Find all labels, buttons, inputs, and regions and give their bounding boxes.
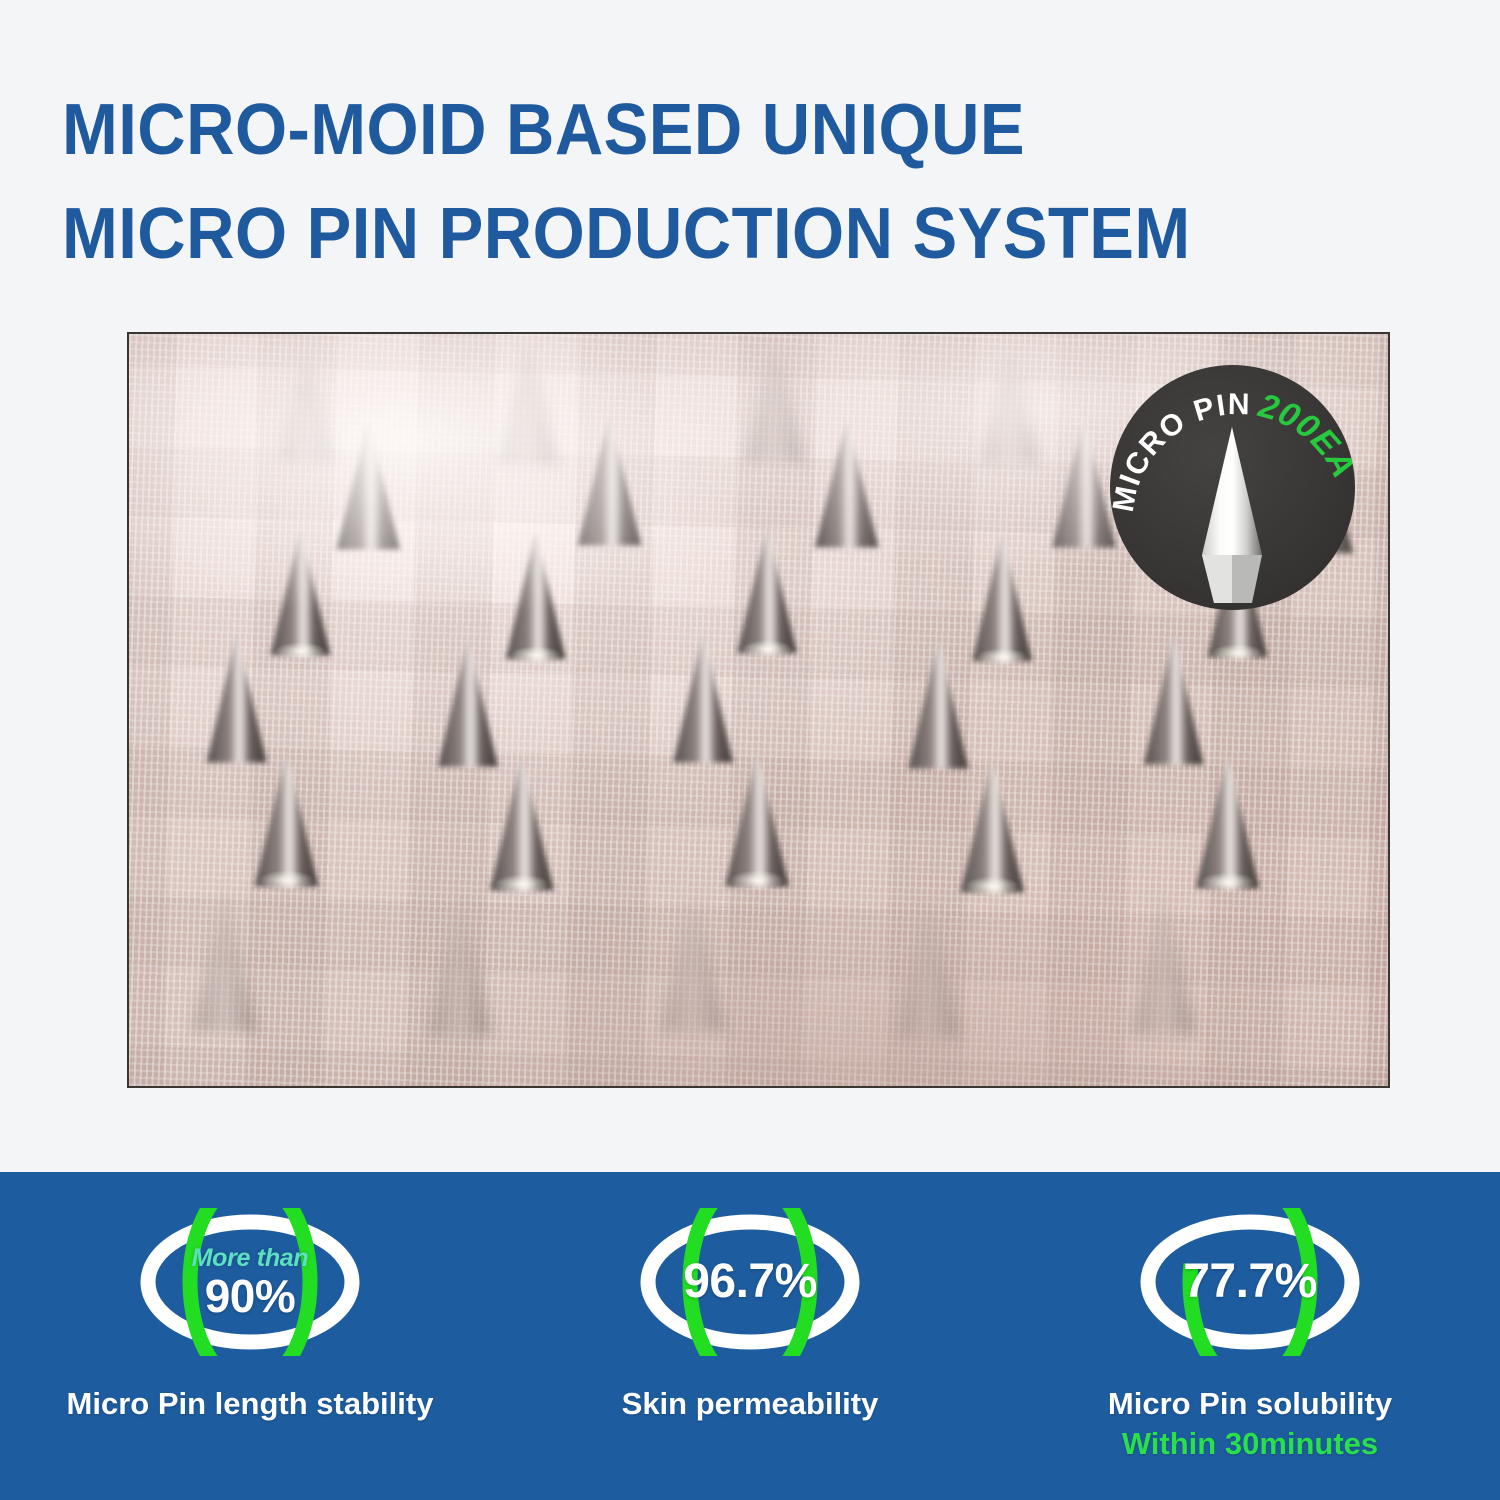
page-title-line-1: MICRO-MOID BASED UNIQUE: [62, 78, 1308, 182]
svg-text:200EA: 200EA: [1254, 386, 1355, 484]
stat-caption-2-line-1: Skin permeability: [622, 1386, 879, 1421]
progress-ring-2: 96.7%: [634, 1208, 866, 1356]
stat-caption-1-line-2: stability: [316, 1386, 433, 1421]
stat-value-2: 96.7%: [683, 1258, 817, 1306]
stats-band: More than 90% Micro Pin length stability…: [0, 1172, 1500, 1500]
stat-value-1: 90%: [205, 1273, 296, 1319]
stat-card-micro-pin-solubility: 77.7% Micro Pin solubility Within 30minu…: [1000, 1172, 1500, 1500]
micro-pin-count-badge: MICRO PIN 200EA: [1110, 365, 1355, 610]
stat-caption-3: Micro Pin solubility Within 30minutes: [1108, 1384, 1392, 1464]
stats-row: More than 90% Micro Pin length stability…: [0, 1172, 1500, 1500]
progress-ring-3: 77.7%: [1134, 1208, 1366, 1356]
page-title-line-2: MICRO PIN PRODUCTION SYSTEM: [62, 182, 1308, 286]
stat-value-3: 77.7%: [1183, 1258, 1317, 1306]
needle-pyramid-icon: [1202, 427, 1262, 603]
stat-caption-1: Micro Pin length stability: [67, 1384, 434, 1424]
badge-label-green: 200EA: [1254, 386, 1355, 484]
stat-caption-3-line-1: Micro Pin solubility: [1108, 1386, 1392, 1421]
ring-center-2: 96.7%: [634, 1208, 866, 1356]
stat-caption-3-sub: Within 30minutes: [1108, 1424, 1392, 1464]
ring-center-3: 77.7%: [1134, 1208, 1366, 1356]
stat-caption-1-line-1: Micro Pin length: [67, 1386, 308, 1421]
stat-card-micro-pin-length-stability: More than 90% Micro Pin length stability: [0, 1172, 500, 1500]
ring-center-1: More than 90%: [134, 1208, 366, 1356]
badge-arc-text-svg: MICRO PIN 200EA: [1110, 365, 1355, 610]
progress-ring-1: More than 90%: [134, 1208, 366, 1356]
page-title: MICRO-MOID BASED UNIQUE MICRO PIN PRODUC…: [62, 78, 1402, 286]
stat-caption-2: Skin permeability: [622, 1384, 879, 1424]
stat-prefix-1: More than: [192, 1246, 309, 1271]
stat-card-skin-permeability: 96.7% Skin permeability: [500, 1172, 1000, 1500]
